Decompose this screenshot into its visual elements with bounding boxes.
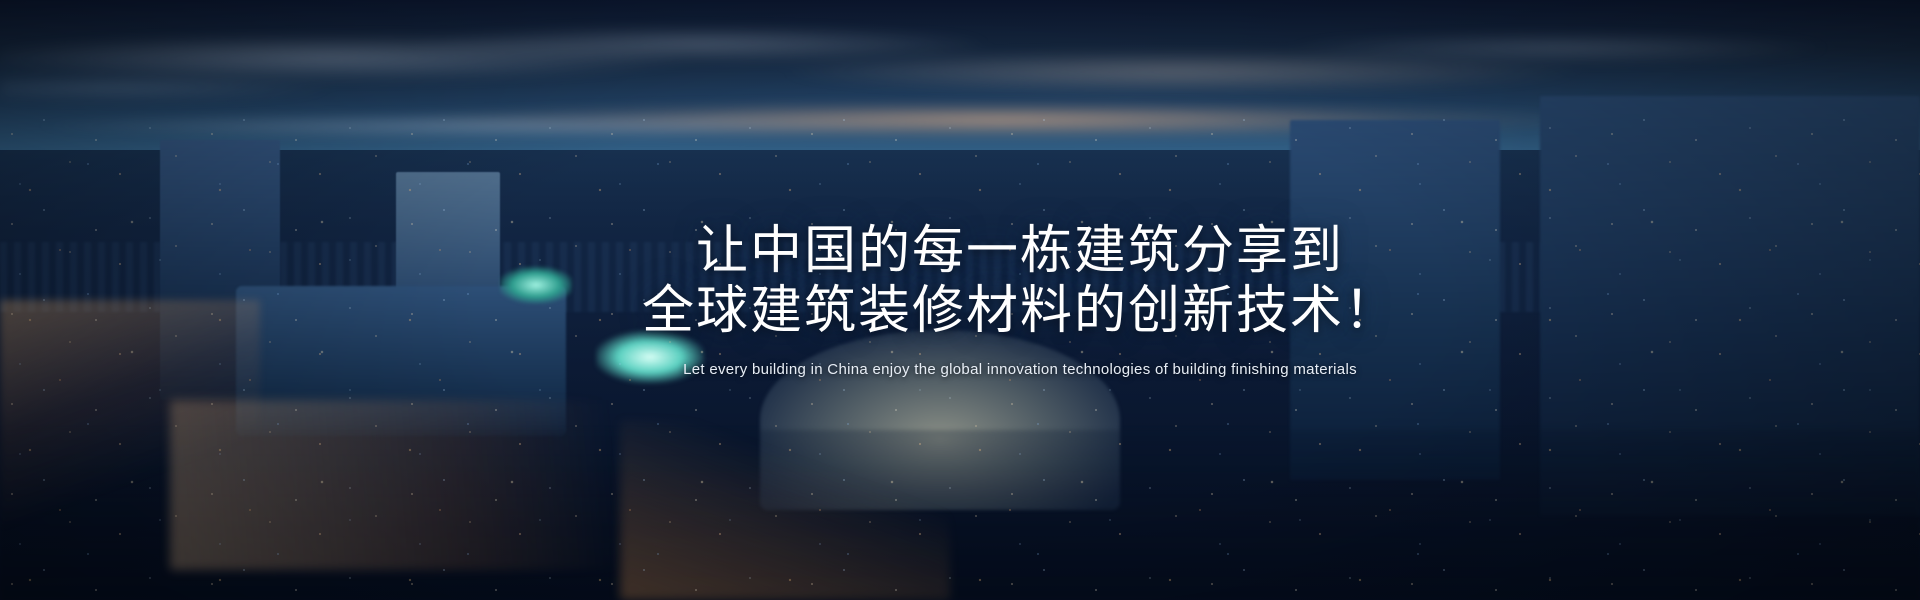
hero-subtitle: Let every building in China enjoy the gl… — [683, 361, 1357, 378]
hero-headline: 让中国的每一栋建筑分享到 全球建筑装修材料的创新技术！ — [642, 222, 1398, 341]
hero-banner: 让中国的每一栋建筑分享到 全球建筑装修材料的创新技术！ Let every bu… — [0, 0, 1920, 600]
hero-headline-line-1: 让中国的每一栋建筑分享到 — [696, 222, 1344, 280]
hero-text-block: 让中国的每一栋建筑分享到 全球建筑装修材料的创新技术！ Let every bu… — [0, 0, 1920, 600]
hero-headline-line-2: 全球建筑装修材料的创新技术！ — [642, 282, 1398, 341]
